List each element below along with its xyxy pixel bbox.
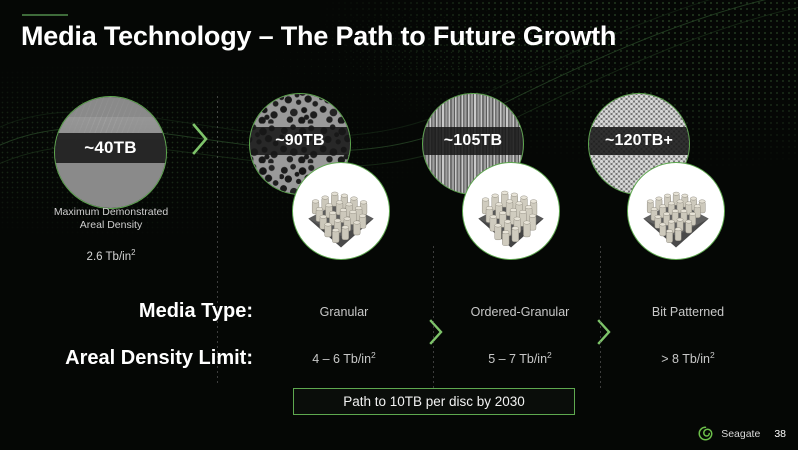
stage-1-areal-density-value: 2.6 Tb/in2	[0, 248, 222, 263]
stage-2-media-illustration-circle	[292, 162, 390, 260]
stage-1-density-number: 2.6 Tb/in	[87, 251, 132, 263]
media-type-row-label: Media Type:	[0, 300, 253, 323]
footer-brand-label: Seagate	[721, 428, 760, 440]
media-type-value-stage-3: Ordered-Granular	[440, 305, 600, 319]
chevron-right-icon-3	[595, 318, 613, 346]
areal-density-exponent-stage-4: 2	[710, 350, 715, 360]
slide-footer: Seagate 38	[698, 426, 786, 441]
stage-4-capacity-label: ~120TB+	[605, 132, 673, 150]
areal-density-number-stage-3: 5 – 7 Tb/in	[488, 352, 547, 366]
footer-page-number: 38	[774, 428, 786, 440]
path-to-10tb-banner: Path to 10TB per disc by 2030	[293, 388, 575, 415]
stage-2-capacity-label: ~90TB	[275, 132, 324, 150]
slide-canvas: Media Technology – The Path to Future Gr…	[0, 0, 798, 450]
stage-2-capacity-band: ~90TB	[250, 127, 350, 155]
column-divider-1	[217, 96, 218, 386]
areal-density-exponent-stage-3: 2	[547, 350, 552, 360]
stage-4-cylinder-array-icon	[628, 163, 724, 259]
stage-1-capacity-label: ~40TB	[84, 138, 137, 158]
areal-density-number-stage-2: 4 – 6 Tb/in	[312, 352, 371, 366]
stage-4-media-illustration-circle	[627, 162, 725, 260]
column-divider-3	[600, 246, 601, 391]
roadmap-circles: ~40TB Maximum Demonstrated Areal Density…	[0, 0, 798, 290]
stage-1-caption-line2: Areal Density	[0, 219, 222, 232]
stage-1-caption-line1: Maximum Demonstrated	[0, 206, 222, 219]
banner-text: Path to 10TB per disc by 2030	[343, 394, 525, 409]
seagate-spiral-icon	[698, 426, 713, 441]
chevron-right-icon-1	[190, 122, 210, 156]
stage-1-density-exponent: 2	[131, 248, 135, 257]
areal-density-value-stage-2: 4 – 6 Tb/in2	[264, 350, 424, 366]
stage-3-capacity-label: ~105TB	[444, 132, 503, 150]
media-type-value-stage-4: Bit Patterned	[608, 305, 768, 319]
stage-1-capacity-band: ~40TB	[55, 133, 166, 163]
column-divider-2	[433, 246, 434, 391]
stage-3-cylinder-array-icon	[463, 163, 559, 259]
areal-density-value-stage-3: 5 – 7 Tb/in2	[440, 350, 600, 366]
areal-density-row-label: Areal Density Limit:	[0, 347, 253, 370]
stage-4-capacity-band: ~120TB+	[589, 127, 689, 155]
stage-1-capacity-circle: ~40TB	[54, 96, 167, 209]
areal-density-value-stage-4: > 8 Tb/in2	[608, 350, 768, 366]
stage-3-media-illustration-circle	[462, 162, 560, 260]
stage-1-caption: Maximum Demonstrated Areal Density	[0, 206, 222, 232]
chevron-right-icon-2	[427, 318, 445, 346]
stage-2-cylinder-array-icon	[293, 163, 389, 259]
areal-density-number-stage-4: > 8 Tb/in	[661, 352, 710, 366]
areal-density-exponent-stage-2: 2	[371, 350, 376, 360]
media-type-value-stage-2: Granular	[264, 305, 424, 319]
stage-3-capacity-band: ~105TB	[423, 127, 523, 155]
